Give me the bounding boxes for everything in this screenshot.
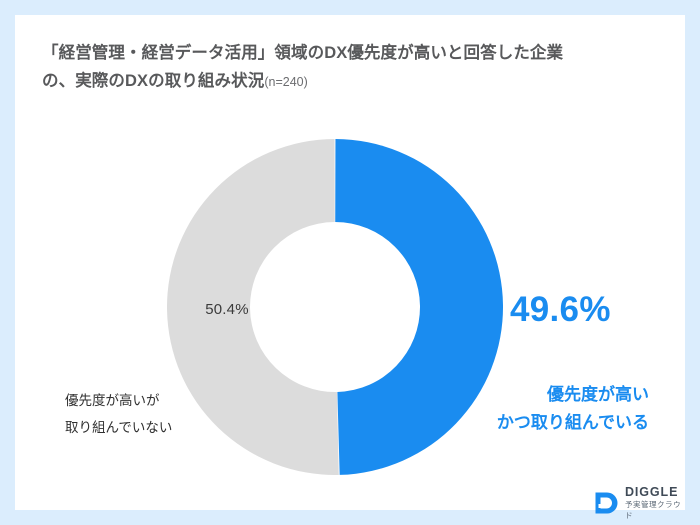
donut-slice-blue[interactable] <box>335 139 503 475</box>
content-card: 「経営管理・経営データ活用」領域のDX優先度が高いと回答した企業 の、実際のDX… <box>15 15 685 510</box>
legend-label-blue-line-1: 優先度が高い <box>497 381 649 409</box>
chart-title-line-1: 「経営管理・経営データ活用」領域のDX優先度が高いと回答した企業 <box>42 39 667 67</box>
chart-title: 「経営管理・経営データ活用」領域のDX優先度が高いと回答した企業 の、実際のDX… <box>42 39 667 96</box>
screenshot-root: 「経営管理・経営データ活用」領域のDX優先度が高いと回答した企業 の、実際のDX… <box>0 0 700 525</box>
diggle-logo: DIGGLE 予実管理クラウド <box>593 485 685 521</box>
legend-label-blue-line-2: かつ取り組んでいる <box>497 409 649 437</box>
value-label-gray: 50.4% <box>181 301 273 318</box>
diggle-logo-name: DIGGLE <box>625 485 685 499</box>
chart-title-line-2-text: の、実際のDXの取り組み状況 <box>42 72 264 90</box>
chart-title-line-2: の、実際のDXの取り組み状況(n=240) <box>42 67 667 96</box>
sample-size-note: (n=240) <box>264 75 307 89</box>
diggle-logo-tagline: 予実管理クラウド <box>625 499 685 521</box>
legend-label-blue: 優先度が高い かつ取り組んでいる <box>497 381 649 437</box>
diggle-logo-text: DIGGLE 予実管理クラウド <box>625 485 685 521</box>
legend-label-gray: 優先度が高いが 取り組んでいない <box>65 387 172 441</box>
diggle-logo-mark-icon <box>593 490 619 516</box>
legend-label-gray-line-2: 取り組んでいない <box>65 414 172 441</box>
value-label-blue: 49.6% <box>510 290 611 330</box>
legend-label-gray-line-1: 優先度が高いが <box>65 387 172 414</box>
